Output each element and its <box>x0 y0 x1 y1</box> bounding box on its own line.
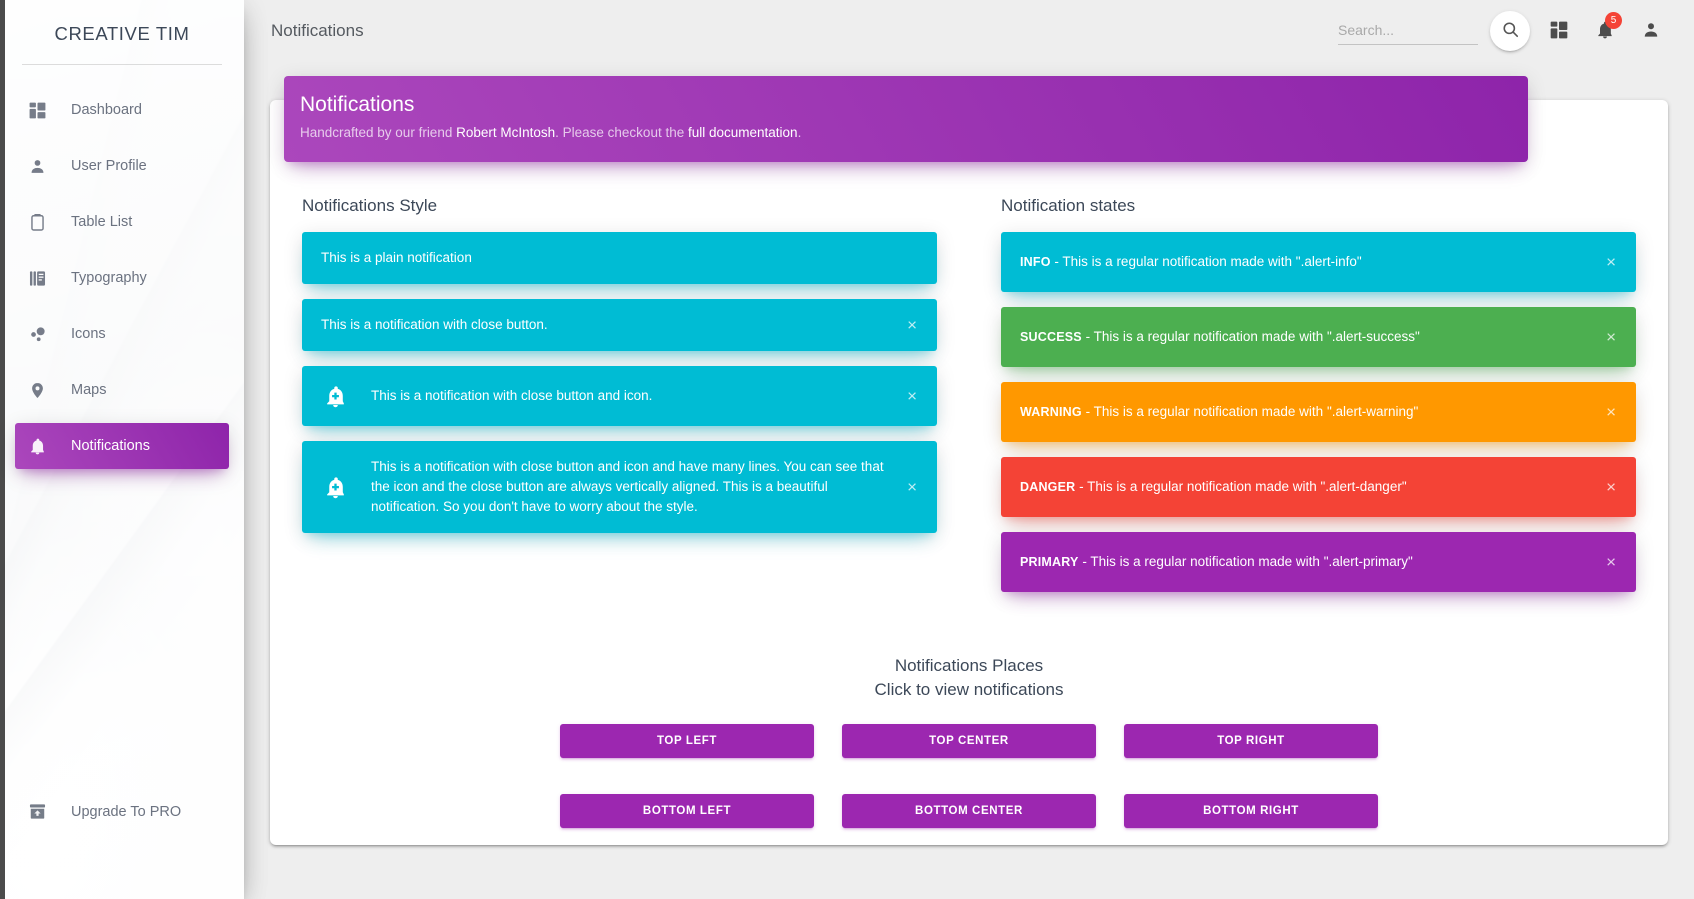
place-button-bottom-left[interactable]: BOTTOM LEFT <box>560 794 814 828</box>
sidebar-item-user-profile[interactable]: User Profile <box>15 143 229 189</box>
alert-text: This is a notification with close button… <box>321 315 893 335</box>
alert-state-primary: PRIMARY - This is a regular notification… <box>1001 532 1636 592</box>
places-subtitle: Click to view notifications <box>270 680 1668 700</box>
alert-text: INFO - This is a regular notification ma… <box>1020 252 1592 272</box>
add-alert-icon <box>321 384 349 409</box>
banner-sub-end: . <box>798 125 802 140</box>
notifications-style-column: Notifications Style This is a plain noti… <box>270 196 969 607</box>
sidebar-item-label: Notifications <box>71 438 150 454</box>
navbar-actions: 5 <box>1338 8 1694 54</box>
bell-icon <box>28 437 58 456</box>
columns: Notifications Style This is a plain noti… <box>270 196 1668 607</box>
alert-text: This is a notification with close button… <box>371 386 893 406</box>
alert-multiline: This is a notification with close button… <box>302 441 937 533</box>
sidebar-item-label: Upgrade To PRO <box>71 804 181 820</box>
notifications-button[interactable]: 5 <box>1582 8 1628 54</box>
clipboard-icon <box>28 213 58 232</box>
banner-title: Notifications <box>300 90 1512 120</box>
alert-state-text: - This is a regular notification made wi… <box>1051 254 1362 269</box>
sidebar-divider <box>22 64 222 65</box>
search-input[interactable] <box>1338 18 1478 45</box>
alert-state-label: SUCCESS <box>1020 330 1082 344</box>
place-button-top-left[interactable]: TOP LEFT <box>560 724 814 758</box>
places-buttons-row-bottom: BOTTOM LEFT BOTTOM CENTER BOTTOM RIGHT <box>270 794 1668 828</box>
close-icon[interactable]: × <box>1602 252 1620 273</box>
sidebar: CREATIVE TIM Dashboard User Profile Tabl… <box>0 0 244 899</box>
place-button-bottom-right[interactable]: BOTTOM RIGHT <box>1124 794 1378 828</box>
notification-states-column: Notification states INFO - This is a reg… <box>969 196 1668 607</box>
alert-text: This is a plain notification <box>321 248 918 268</box>
unarchive-icon <box>28 802 58 821</box>
sidebar-item-label: Maps <box>71 382 106 398</box>
sidebar-item-maps[interactable]: Maps <box>15 367 229 413</box>
alert-text: SUCCESS - This is a regular notification… <box>1020 327 1592 347</box>
sidebar-item-label: Icons <box>71 326 106 342</box>
content-card: Notifications Handcrafted by our friend … <box>270 100 1668 845</box>
place-button-top-center[interactable]: TOP CENTER <box>842 724 1096 758</box>
sidebar-nav: Dashboard User Profile Table List Typogr… <box>0 87 244 469</box>
sidebar-item-label: Typography <box>71 270 147 286</box>
sidebar-item-upgrade-to-pro[interactable]: Upgrade To PRO <box>0 802 244 821</box>
alert-state-label: DANGER <box>1020 480 1075 494</box>
places-buttons-row-top: TOP LEFT TOP CENTER TOP RIGHT <box>270 724 1668 758</box>
alert-with-close: This is a notification with close button… <box>302 299 937 351</box>
close-icon[interactable]: × <box>1602 477 1620 498</box>
dashboard-shortcut-button[interactable] <box>1536 8 1582 54</box>
alert-state-label: INFO <box>1020 255 1051 269</box>
alert-state-text: - This is a regular notification made wi… <box>1082 329 1420 344</box>
alert-text: DANGER - This is a regular notification … <box>1020 477 1592 497</box>
sidebar-item-dashboard[interactable]: Dashboard <box>15 87 229 133</box>
dashboard-icon <box>28 101 58 120</box>
alert-state-warning: WARNING - This is a regular notification… <box>1001 382 1636 442</box>
account-button[interactable] <box>1628 8 1674 54</box>
alert-text: WARNING - This is a regular notification… <box>1020 402 1592 422</box>
alert-state-label: PRIMARY <box>1020 555 1079 569</box>
alert-state-text: - This is a regular notification made wi… <box>1082 404 1418 419</box>
sidebar-item-notifications[interactable]: Notifications <box>15 423 229 469</box>
close-icon[interactable]: × <box>1602 327 1620 348</box>
documentation-link[interactable]: full documentation <box>688 125 798 140</box>
alert-state-text: - This is a regular notification made wi… <box>1075 479 1406 494</box>
author-link[interactable]: Robert McIntosh <box>456 125 555 140</box>
banner-sub-mid: . Please checkout the <box>555 125 688 140</box>
close-icon[interactable]: × <box>903 315 921 336</box>
bubble-chart-icon <box>28 325 58 344</box>
banner-sub-before: Handcrafted by our friend <box>300 125 456 140</box>
main-content: Notifications Handcrafted by our friend … <box>244 62 1694 899</box>
section-title-notifications-style: Notifications Style <box>302 196 951 216</box>
person-icon <box>28 157 58 176</box>
alert-with-close-and-icon: This is a notification with close button… <box>302 366 937 426</box>
location-pin-icon <box>28 381 58 400</box>
notifications-badge: 5 <box>1605 12 1622 29</box>
person-icon <box>1641 20 1661 43</box>
close-icon[interactable]: × <box>903 386 921 407</box>
sidebar-item-label: User Profile <box>71 158 147 174</box>
alert-state-text: - This is a regular notification made wi… <box>1079 554 1413 569</box>
alert-state-success: SUCCESS - This is a regular notification… <box>1001 307 1636 367</box>
typography-icon <box>28 269 58 288</box>
places-title: Notifications Places <box>270 656 1668 676</box>
place-button-bottom-center[interactable]: BOTTOM CENTER <box>842 794 1096 828</box>
close-icon[interactable]: × <box>1602 552 1620 573</box>
search-button[interactable] <box>1490 11 1530 51</box>
section-title-notification-states: Notification states <box>1001 196 1650 216</box>
close-icon[interactable]: × <box>903 477 921 498</box>
add-alert-icon <box>321 475 349 500</box>
sidebar-item-typography[interactable]: Typography <box>15 255 229 301</box>
search-icon <box>1501 20 1520 42</box>
place-button-top-right[interactable]: TOP RIGHT <box>1124 724 1378 758</box>
page-title: Notifications <box>271 21 364 41</box>
banner-subtitle: Handcrafted by our friend Robert McIntos… <box>300 125 1512 140</box>
alert-state-danger: DANGER - This is a regular notification … <box>1001 457 1636 517</box>
sidebar-item-table-list[interactable]: Table List <box>15 199 229 245</box>
alert-state-label: WARNING <box>1020 405 1082 419</box>
sidebar-item-label: Table List <box>71 214 132 230</box>
alert-text: PRIMARY - This is a regular notification… <box>1020 552 1592 572</box>
sidebar-item-icons[interactable]: Icons <box>15 311 229 357</box>
notifications-places-section: Notifications Places Click to view notif… <box>270 656 1668 828</box>
alert-text: This is a notification with close button… <box>371 457 893 517</box>
search-field-wrapper <box>1338 18 1478 45</box>
page-header-banner: Notifications Handcrafted by our friend … <box>284 76 1528 162</box>
dashboard-grid-icon <box>1549 20 1569 43</box>
close-icon[interactable]: × <box>1602 402 1620 423</box>
brand-logo[interactable]: CREATIVE TIM <box>0 0 244 64</box>
sidebar-item-label: Dashboard <box>71 102 142 118</box>
alert-plain: This is a plain notification <box>302 232 937 284</box>
alert-state-info: INFO - This is a regular notification ma… <box>1001 232 1636 292</box>
top-navbar: Notifications 5 <box>244 0 1694 62</box>
